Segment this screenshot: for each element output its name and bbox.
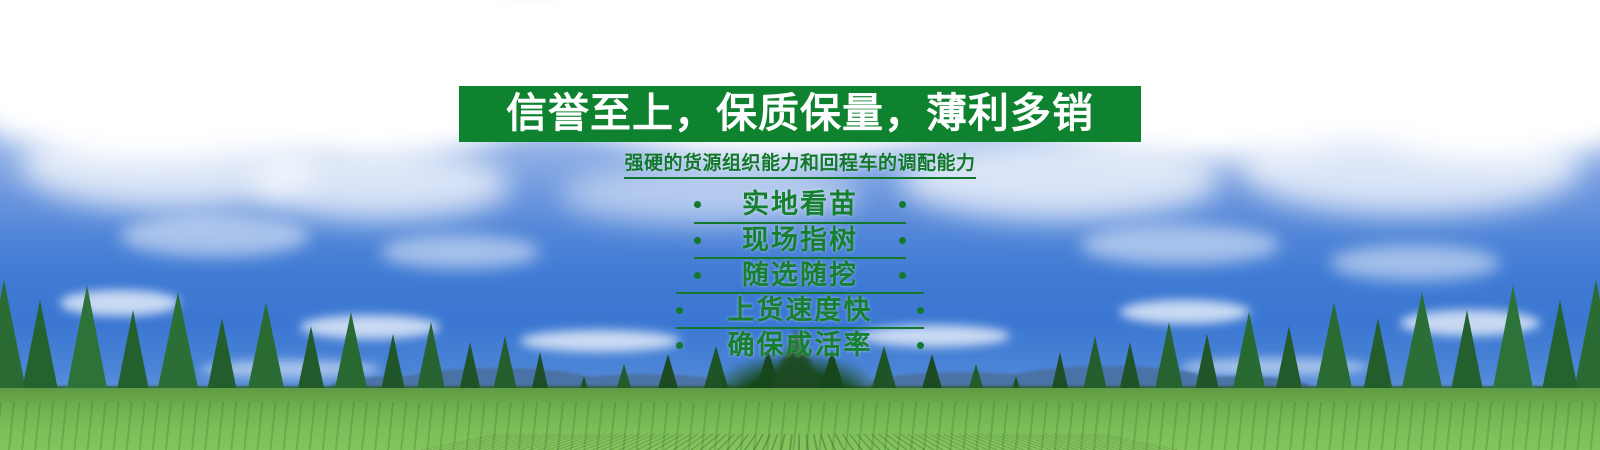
bullet-dot-icon — [694, 237, 701, 244]
feature-item: 确保成活率 — [676, 327, 924, 362]
feature-item: 实地看苗 — [694, 187, 906, 222]
feature-item: 上货速度快 — [676, 292, 924, 327]
feature-label: 随选随挖 — [701, 262, 899, 289]
bullet-dot-icon — [917, 342, 924, 349]
feature-label: 上货速度快 — [683, 297, 917, 324]
bullet-dot-icon — [899, 272, 906, 279]
bullet-dot-icon — [899, 237, 906, 244]
subtitle-text: 强硬的货源组织能力和回程车的调配能力 — [624, 148, 975, 179]
feature-item: 现场指树 — [694, 222, 906, 257]
bullet-dot-icon — [917, 307, 924, 314]
bullet-dot-icon — [899, 201, 906, 208]
headline-text: 信誉至上，保质保量，薄利多销 — [506, 93, 1094, 134]
bullet-dot-icon — [694, 272, 701, 279]
banner-content: 信誉至上，保质保量，薄利多销 强硬的货源组织能力和回程车的调配能力 实地看苗 现… — [0, 0, 1600, 450]
bullet-dot-icon — [676, 307, 683, 314]
feature-label: 现场指树 — [701, 227, 899, 254]
feature-item: 随选随挖 — [694, 257, 906, 292]
feature-list: 实地看苗 现场指树 随选随挖 上货速度快 确保成活率 — [676, 187, 924, 362]
headline-bar: 信誉至上，保质保量，薄利多销 — [459, 86, 1141, 142]
bullet-dot-icon — [676, 342, 683, 349]
bullet-dot-icon — [694, 201, 701, 208]
feature-label: 确保成活率 — [683, 332, 917, 359]
feature-label: 实地看苗 — [701, 191, 899, 218]
promo-banner: 信誉至上，保质保量，薄利多销 强硬的货源组织能力和回程车的调配能力 实地看苗 现… — [0, 0, 1600, 450]
